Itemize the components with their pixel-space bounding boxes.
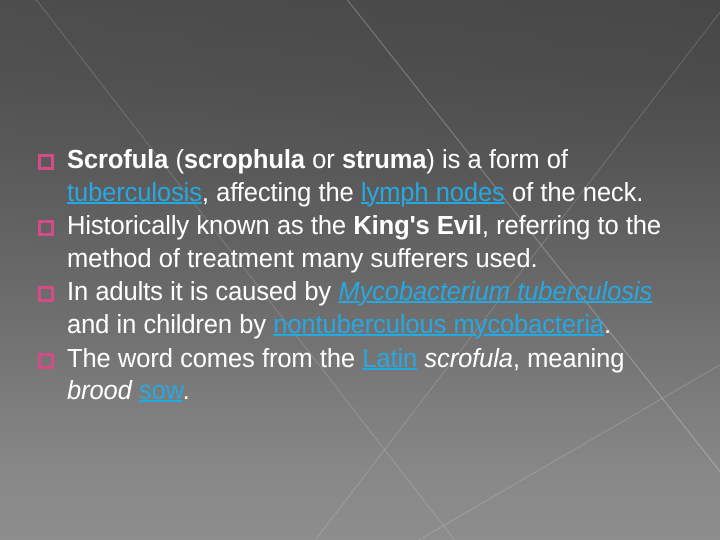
run-scrofula-italic: scrofula bbox=[424, 345, 513, 373]
link-latin[interactable]: Latin bbox=[362, 345, 417, 373]
run-is-a-form-of: ) is a form of bbox=[426, 146, 568, 174]
square-bullet-icon bbox=[38, 353, 54, 369]
run-and-in-children-by: and in children by bbox=[67, 311, 273, 339]
list-item: In adults it is caused by Mycobacterium … bbox=[38, 276, 694, 341]
run-meaning: , meaning bbox=[513, 345, 624, 373]
run-open-paren: ( bbox=[176, 146, 184, 174]
link-sow[interactable]: sow bbox=[139, 377, 183, 405]
bullet-4-text: The word comes from the Latin scrofula, … bbox=[67, 343, 694, 408]
list-item: Scrofula (scrophula or struma) is a form… bbox=[38, 144, 694, 209]
bullet-1-text: Scrofula (scrophula or struma) is a form… bbox=[67, 144, 694, 209]
link-lymph-nodes[interactable]: lymph nodes bbox=[361, 179, 505, 207]
run-of-the-neck: of the neck. bbox=[505, 179, 644, 207]
slide-body: Scrofula (scrophula or struma) is a form… bbox=[38, 144, 694, 409]
run-kings-evil: King's Evil bbox=[353, 212, 482, 240]
run-struma: struma bbox=[342, 146, 426, 174]
list-item: Historically known as the King's Evil, r… bbox=[38, 210, 694, 275]
square-bullet-icon bbox=[38, 220, 54, 236]
run-historically-known: Historically known as the bbox=[67, 212, 353, 240]
square-bullet-icon bbox=[38, 286, 54, 302]
run-period-4: . bbox=[183, 377, 190, 405]
bullet-3-text: In adults it is caused by Mycobacterium … bbox=[67, 276, 694, 341]
link-mycobacterium-tuberculosis[interactable]: Mycobacterium tuberculosis bbox=[338, 278, 652, 306]
run-scrophula: scrophula bbox=[184, 146, 305, 174]
run-word-comes-from: The word comes from the bbox=[67, 345, 362, 373]
list-item: The word comes from the Latin scrofula, … bbox=[38, 343, 694, 408]
run-brood-italic: brood bbox=[67, 377, 132, 405]
run-affecting-the: , affecting the bbox=[202, 179, 361, 207]
run-scrofula: Scrofula bbox=[67, 146, 176, 174]
link-nontuberculous-mycobacteria[interactable]: nontuberculous mycobacteria bbox=[273, 311, 604, 339]
bullet-2-text: Historically known as the King's Evil, r… bbox=[67, 210, 694, 275]
slide-canvas: Scrofula (scrophula or struma) is a form… bbox=[0, 0, 720, 540]
run-or: or bbox=[305, 146, 342, 174]
link-tuberculosis[interactable]: tuberculosis bbox=[67, 179, 202, 207]
run-in-adults-caused-by: In adults it is caused by bbox=[67, 278, 338, 306]
run-space-2 bbox=[132, 377, 139, 405]
square-bullet-icon bbox=[38, 154, 54, 170]
run-period-3: . bbox=[604, 311, 611, 339]
